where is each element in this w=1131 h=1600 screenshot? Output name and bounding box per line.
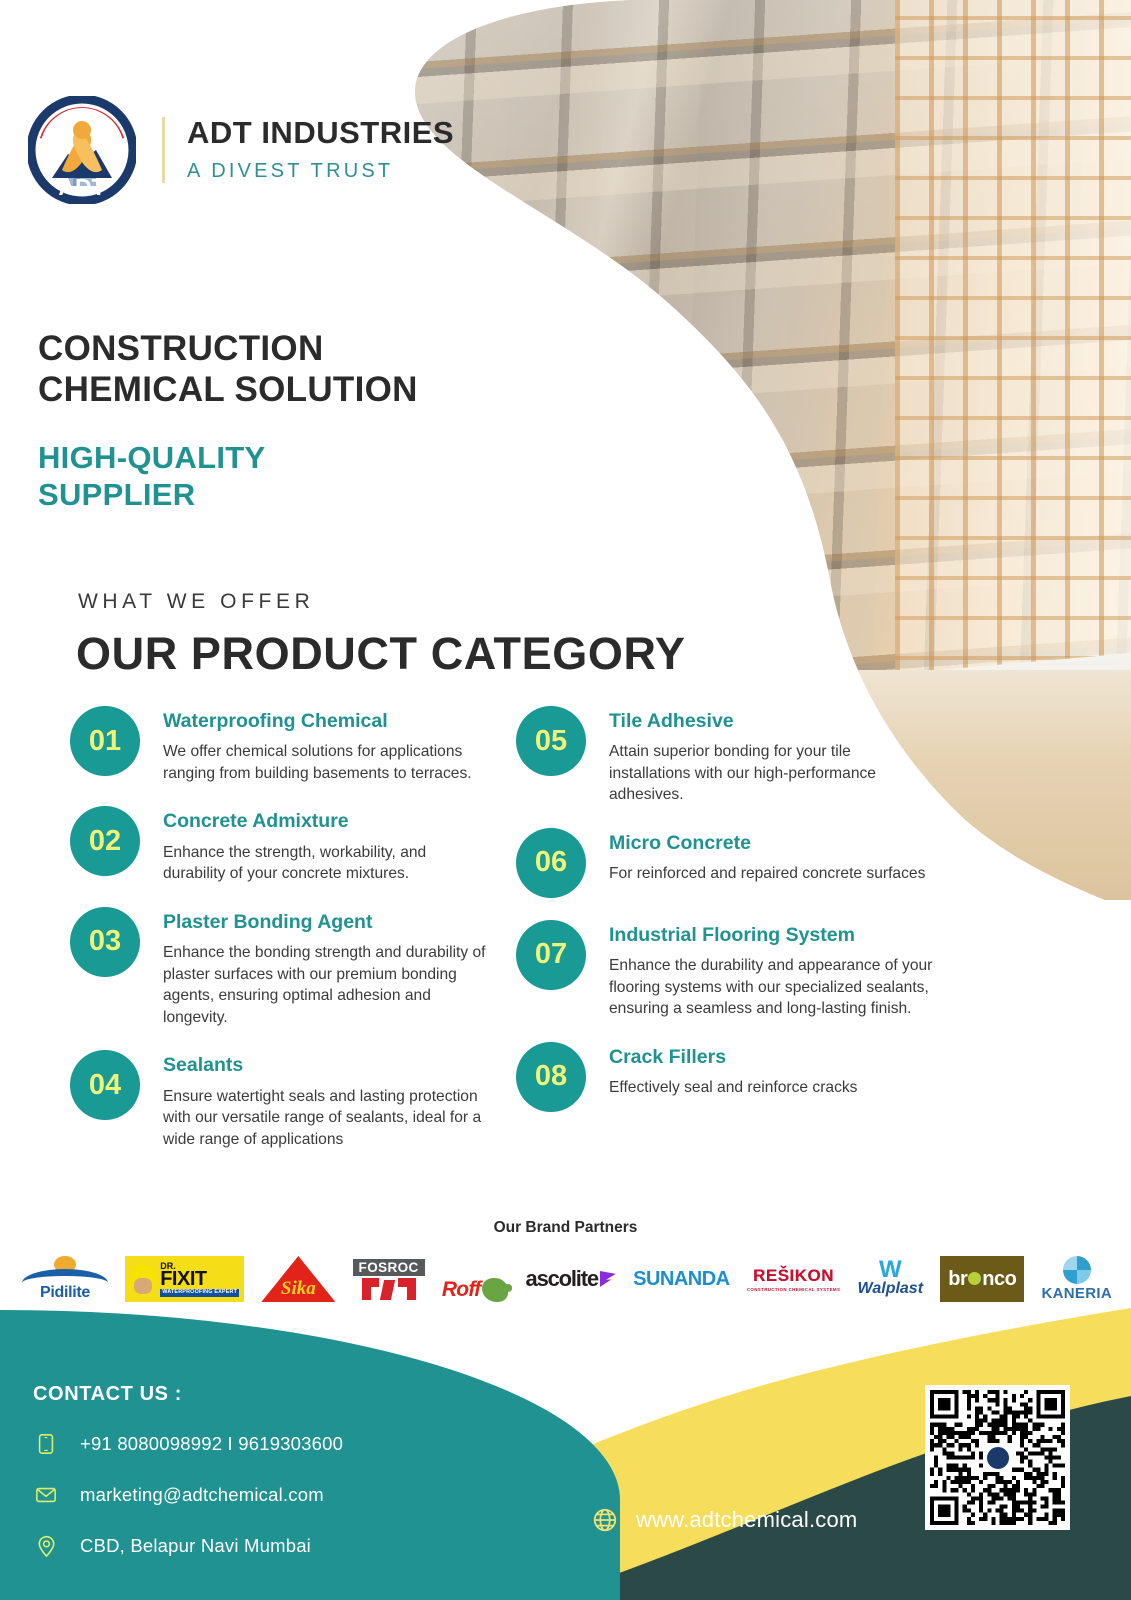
ascolite-swoosh-icon [600, 1271, 616, 1287]
contact-email: marketing@adtchemical.com [80, 1484, 324, 1506]
qr-code[interactable] [925, 1385, 1070, 1530]
contact-website: www.adtchemical.com [636, 1507, 857, 1533]
category-description: Ensure watertight seals and lasting prot… [163, 1086, 490, 1151]
partner-name: SUNANDA [633, 1268, 730, 1291]
category-title: Sealants [163, 1054, 490, 1077]
category-title: Crack Fillers [609, 1046, 857, 1069]
category-item[interactable]: 05Tile AdhesiveAttain superior bonding f… [516, 706, 936, 806]
partner-logo-sika[interactable]: Sika [261, 1256, 335, 1302]
partners-heading: Our Brand Partners [0, 1219, 1131, 1237]
envelope-icon [33, 1481, 59, 1509]
svg-text:ADT: ADT [58, 174, 105, 200]
category-description: For reinforced and repaired concrete sur… [609, 863, 925, 885]
category-item[interactable]: 04SealantsEnsure watertight seals and la… [70, 1050, 490, 1150]
partner-logo-sunanda[interactable]: SUNANDA [633, 1256, 730, 1302]
contact-list: +91 8080098992 I 9619303600 marketing@ad… [33, 1430, 343, 1560]
roff-crocodile-icon [482, 1278, 508, 1302]
hero-title-line2: CHEMICAL SOLUTION [38, 370, 418, 409]
contact-address: CBD, Belapur Navi Mumbai [80, 1535, 311, 1557]
partner-name: KANERIA [1042, 1285, 1112, 1302]
partner-name: FIXIT [160, 1270, 239, 1289]
partner-logo-dr-fixit[interactable]: DR. FIXIT WATERPROOFING EXPERT [125, 1256, 244, 1302]
partner-subtext: CONSTRUCTION CHEMICAL SYSTEMS [747, 1287, 840, 1292]
section-kicker: WHAT WE OFFER [78, 590, 314, 614]
category-number-badge: 04 [70, 1050, 140, 1120]
partner-name: brnco [948, 1268, 1016, 1291]
partner-logo-bronco[interactable]: brnco [940, 1256, 1024, 1302]
category-item[interactable]: 01Waterproofing ChemicalWe offer chemica… [70, 706, 490, 784]
partner-logo-ascolite[interactable]: ascolite [526, 1256, 616, 1302]
contact-row-email[interactable]: marketing@adtchemical.com [33, 1481, 343, 1509]
partner-logo-strip: Pidilite DR. FIXIT WATERPROOFING EXPERT … [22, 1240, 1112, 1302]
partner-name: Sika [261, 1278, 335, 1300]
fixit-mascot-icon [130, 1264, 156, 1294]
qr-logo-badge [985, 1445, 1011, 1471]
hero-subtitle-line1: HIGH-QUALITY [38, 440, 265, 475]
partner-subtext: WATERPROOFING EXPERT [160, 1289, 239, 1296]
walplast-w-icon: W [879, 1260, 902, 1279]
handshake-emblem-icon: ADT [28, 96, 136, 204]
category-column-left: 01Waterproofing ChemicalWe offer chemica… [70, 706, 490, 1172]
category-item[interactable]: 07Industrial Flooring SystemEnhance the … [516, 920, 936, 1020]
category-description: We offer chemical solutions for applicat… [163, 741, 490, 784]
category-column-right: 05Tile AdhesiveAttain superior bonding f… [516, 706, 936, 1134]
logo-divider [162, 117, 165, 183]
mobile-phone-icon [33, 1430, 59, 1458]
category-number-badge: 01 [70, 706, 140, 776]
category-item[interactable]: 02Concrete AdmixtureEnhance the strength… [70, 806, 490, 884]
category-number-badge: 02 [70, 806, 140, 876]
contact-phone: +91 8080098992 I 9619303600 [80, 1433, 343, 1455]
section-title: OUR PRODUCT CATEGORY [76, 628, 686, 680]
category-description: Effectively seal and reinforce cracks [609, 1077, 857, 1099]
hero-headline: CONSTRUCTION CHEMICAL SOLUTION HIGH-QUAL… [38, 328, 418, 513]
partner-logo-fosroc[interactable]: FOSROC [353, 1256, 425, 1302]
category-description: Attain superior bonding for your tile in… [609, 741, 936, 806]
partner-name: Roff [442, 1278, 480, 1302]
company-name: ADT INDUSTRIES [187, 117, 454, 150]
category-title: Waterproofing Chemical [163, 710, 490, 733]
contact-row-phone[interactable]: +91 8080098992 I 9619303600 [33, 1430, 343, 1458]
category-title: Tile Adhesive [609, 710, 936, 733]
partner-logo-pidilite[interactable]: Pidilite [22, 1256, 108, 1302]
partner-logo-kaneria[interactable]: KANERIA [1042, 1256, 1112, 1302]
globe-icon [592, 1506, 618, 1534]
category-title: Micro Concrete [609, 832, 925, 855]
category-number-badge: 06 [516, 828, 586, 898]
category-description: Enhance the bonding strength and durabil… [163, 942, 490, 1028]
website-row[interactable]: www.adtchemical.com [592, 1506, 857, 1534]
fosroc-mark-icon [362, 1278, 416, 1300]
category-number-badge: 03 [70, 907, 140, 977]
category-item[interactable]: 03Plaster Bonding AgentEnhance the bondi… [70, 907, 490, 1028]
hero-title-line1: CONSTRUCTION [38, 329, 324, 368]
category-item[interactable]: 06Micro ConcreteFor reinforced and repai… [516, 828, 936, 898]
partner-name: REŠIKON [753, 1266, 834, 1286]
category-title: Concrete Admixture [163, 810, 490, 833]
category-title: Plaster Bonding Agent [163, 911, 490, 934]
partner-name: Walplast [858, 1280, 924, 1298]
category-description: Enhance the strength, workability, and d… [163, 842, 490, 885]
hero-subtitle-line2: SUPPLIER [38, 477, 195, 512]
partner-logo-roff[interactable]: Roff [442, 1256, 508, 1302]
category-description: Enhance the durability and appearance of… [609, 955, 936, 1020]
partner-name: Pidilite [40, 1284, 90, 1302]
category-number-badge: 08 [516, 1042, 586, 1112]
category-number-badge: 07 [516, 920, 586, 990]
partner-name: FOSROC [353, 1259, 425, 1276]
category-number-badge: 05 [516, 706, 586, 776]
partner-name: ascolite [526, 1266, 598, 1292]
map-pin-icon [33, 1532, 59, 1560]
kaneria-swirl-icon [1063, 1256, 1091, 1284]
category-title: Industrial Flooring System [609, 924, 936, 947]
partner-logo-walplast[interactable]: W Walplast [858, 1256, 924, 1302]
partner-logo-resikon[interactable]: REŠIKON CONSTRUCTION CHEMICAL SYSTEMS [747, 1256, 840, 1302]
contact-heading: CONTACT US : [33, 1383, 182, 1406]
pidilite-arc-icon [22, 1269, 108, 1283]
contact-row-address[interactable]: CBD, Belapur Navi Mumbai [33, 1532, 343, 1560]
category-item[interactable]: 08Crack FillersEffectively seal and rein… [516, 1042, 936, 1112]
company-logo-header[interactable]: ADT ADT INDUSTRIES A DIVEST TRUST [28, 96, 454, 204]
company-tagline: A DIVEST TRUST [187, 160, 454, 183]
